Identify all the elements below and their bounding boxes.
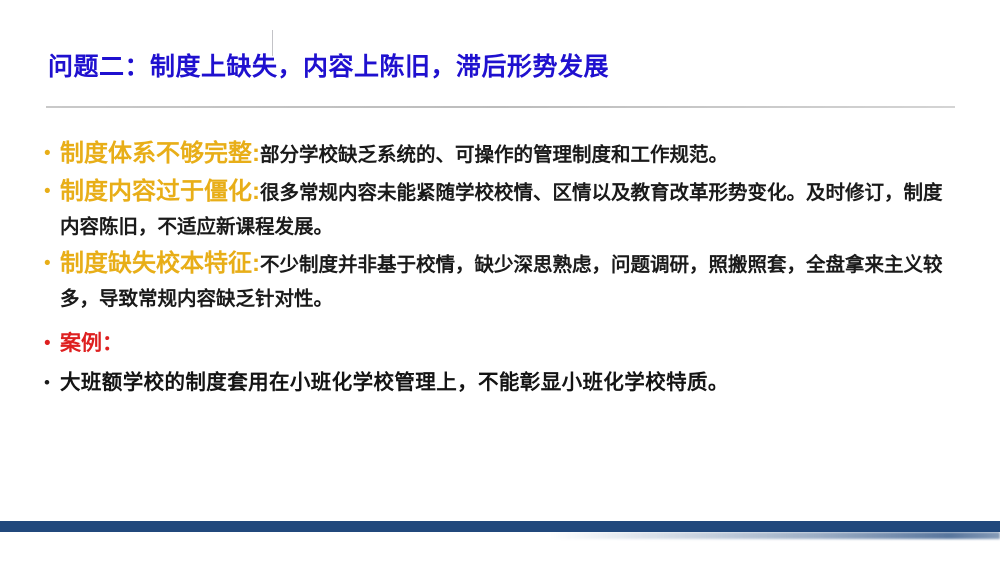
title-divider <box>46 106 955 108</box>
case-section-header: • 案例： <box>44 327 956 362</box>
text-caret-artifact <box>272 30 273 56</box>
list-item-text: 制度缺失校本特征:不少制度并非基于校情，缺少深思熟虑，问题调研，照搬照套，全盘拿… <box>60 247 956 317</box>
case-label: 案例： <box>60 332 123 355</box>
list-item-text: 制度体系不够完整:部分学校缺乏系统的、可操作的管理制度和工作规范。 <box>60 137 956 173</box>
list-item: • 大班额学校的制度套用在小班化学校管理上，不能彰显小班化学校特质。 <box>44 368 956 401</box>
footer-accent-bar <box>0 521 1000 532</box>
list-item: • 制度缺失校本特征:不少制度并非基于校情，缺少深思熟虑，问题调研，照搬照套，全… <box>44 247 956 317</box>
list-item: • 制度体系不够完整:部分学校缺乏系统的、可操作的管理制度和工作规范。 <box>44 137 956 173</box>
bullet-dot-icon: • <box>44 368 60 398</box>
list-item-detail: 部分学校缺乏系统的、可操作的管理制度和工作规范。 <box>260 144 728 166</box>
bullet-dot-icon: • <box>44 175 60 208</box>
bullet-dot-icon: • <box>44 247 60 280</box>
case-example-text: 大班额学校的制度套用在小班化学校管理上，不能彰显小班化学校特质。 <box>60 372 729 394</box>
list-item-lead: 制度体系不够完整 <box>60 140 252 167</box>
bullet-dot-icon: • <box>44 137 60 170</box>
list-item-text: 制度内容过于僵化:很多常规内容未能紧随学校校情、区情以及教育改革形势变化。及时修… <box>60 175 956 245</box>
list-item-separator: : <box>252 250 260 277</box>
list-item-lead: 制度缺失校本特征 <box>60 250 252 277</box>
body-content: • 制度体系不够完整:部分学校缺乏系统的、可操作的管理制度和工作规范。 • 制度… <box>44 137 956 403</box>
slide-canvas: 问题二：制度上缺失，内容上陈旧，滞后形势发展 • 制度体系不够完整:部分学校缺乏… <box>0 0 1000 562</box>
list-item-text: 大班额学校的制度套用在小班化学校管理上，不能彰显小班化学校特质。 <box>60 368 956 401</box>
list-item-separator: : <box>252 178 260 205</box>
list-item: • 制度内容过于僵化:很多常规内容未能紧随学校校情、区情以及教育改革形势变化。及… <box>44 175 956 245</box>
list-item-lead: 制度内容过于僵化 <box>60 178 252 205</box>
list-item-separator: : <box>252 140 260 167</box>
case-label-text: 案例： <box>60 327 956 362</box>
page-title: 问题二：制度上缺失，内容上陈旧，滞后形势发展 <box>48 54 609 82</box>
bullet-dot-icon: • <box>44 327 60 360</box>
footer-accent-bar-shadow <box>0 532 1000 539</box>
